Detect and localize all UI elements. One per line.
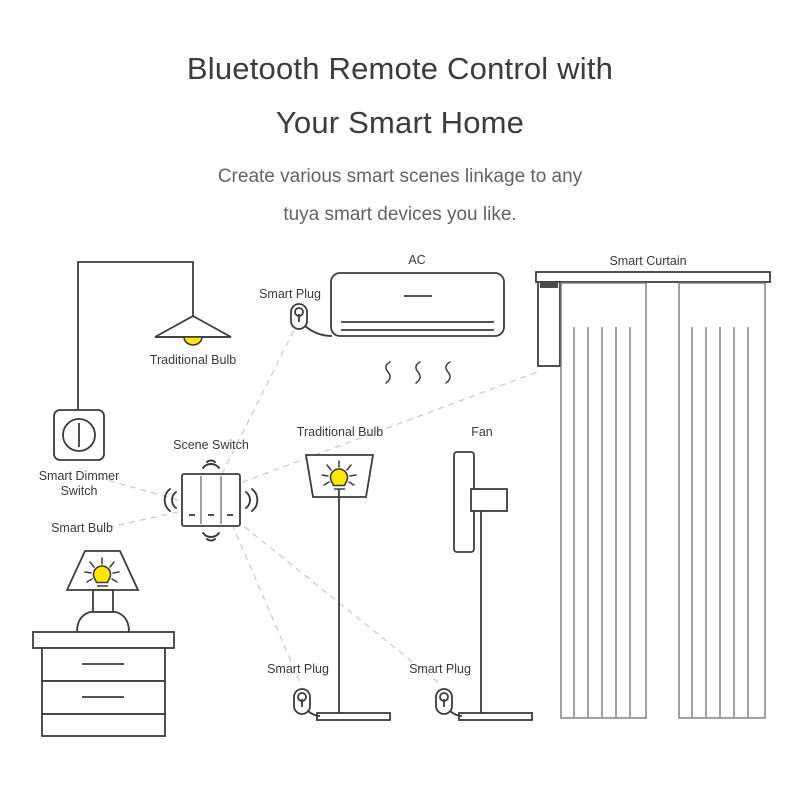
scene-switch-signal-right-icon — [246, 489, 257, 511]
ac-body — [331, 273, 504, 336]
nightstand-top — [33, 632, 174, 648]
link-scene-switch-to-smart-plug-lamp — [232, 524, 300, 682]
curtain-rail — [536, 272, 770, 282]
curtain-panel-left-pleats — [574, 327, 630, 717]
nightstand — [33, 632, 174, 736]
scene-switch-faceplate[interactable] — [182, 474, 240, 526]
label-traditional-bulb-floor: Traditional Bulb — [290, 425, 390, 440]
traditional-bulb-pendant — [78, 262, 231, 410]
pendant-bulb-glow-icon — [184, 337, 202, 345]
scene-switch-signal-bottom-icon — [203, 533, 219, 541]
label-smart-plug-lamp: Smart Plug — [258, 662, 338, 677]
smart-curtain — [536, 272, 770, 718]
infographic-canvas: Bluetooth Remote Control with Your Smart… — [0, 0, 800, 800]
label-smart-curtain: Smart Curtain — [593, 254, 703, 269]
scene-switch-signal-top-icon — [203, 460, 219, 468]
air-conditioner — [331, 273, 504, 383]
label-smart-plug-ac: Smart Plug — [250, 287, 330, 302]
curtain-motor[interactable] — [538, 282, 560, 366]
smart-home-diagram: .s { fill:none; stroke:#3c3c3c; stroke-w… — [0, 0, 800, 800]
smart-dimmer-switch[interactable] — [54, 410, 104, 460]
fan-base — [459, 713, 532, 720]
scene-switch[interactable] — [165, 460, 258, 540]
smart-plug-ac-cord — [305, 326, 332, 336]
fan-motor-housing — [471, 489, 507, 511]
table-lamp-neck — [93, 590, 113, 612]
label-smart-dimmer-switch-line-2: Switch — [29, 484, 129, 499]
smart-plug-lamp[interactable] — [294, 689, 320, 716]
fan — [454, 452, 532, 720]
label-fan: Fan — [459, 425, 505, 440]
pendant-wire — [78, 262, 193, 410]
label-smart-bulb: Smart Bulb — [42, 521, 122, 536]
curtain-motor-cap — [540, 283, 558, 288]
smart-plug-fan[interactable] — [436, 689, 462, 716]
label-traditional-bulb-pendant: Traditional Bulb — [143, 353, 243, 368]
label-ac: AC — [392, 253, 442, 268]
nightstand-drawer-3 — [42, 714, 165, 736]
link-scene-switch-to-smart-plug-fan — [236, 520, 440, 684]
floor-lamp-bulb-icon — [331, 469, 348, 486]
label-scene-switch: Scene Switch — [161, 438, 261, 453]
label-smart-plug-fan: Smart Plug — [400, 662, 480, 677]
traditional-bulb-floor-lamp — [306, 455, 390, 720]
pendant-shade — [155, 316, 231, 337]
smart-plug-ac[interactable] — [291, 304, 332, 336]
table-lamp-bulb-icon — [94, 566, 111, 583]
label-smart-dimmer-switch-line-1: Smart Dimmer — [29, 469, 129, 484]
ac-airflow-icon — [386, 362, 450, 383]
scene-switch-signal-left-icon — [165, 489, 176, 511]
curtain-panel-right-pleats — [692, 327, 748, 717]
floor-lamp-base — [317, 713, 390, 720]
